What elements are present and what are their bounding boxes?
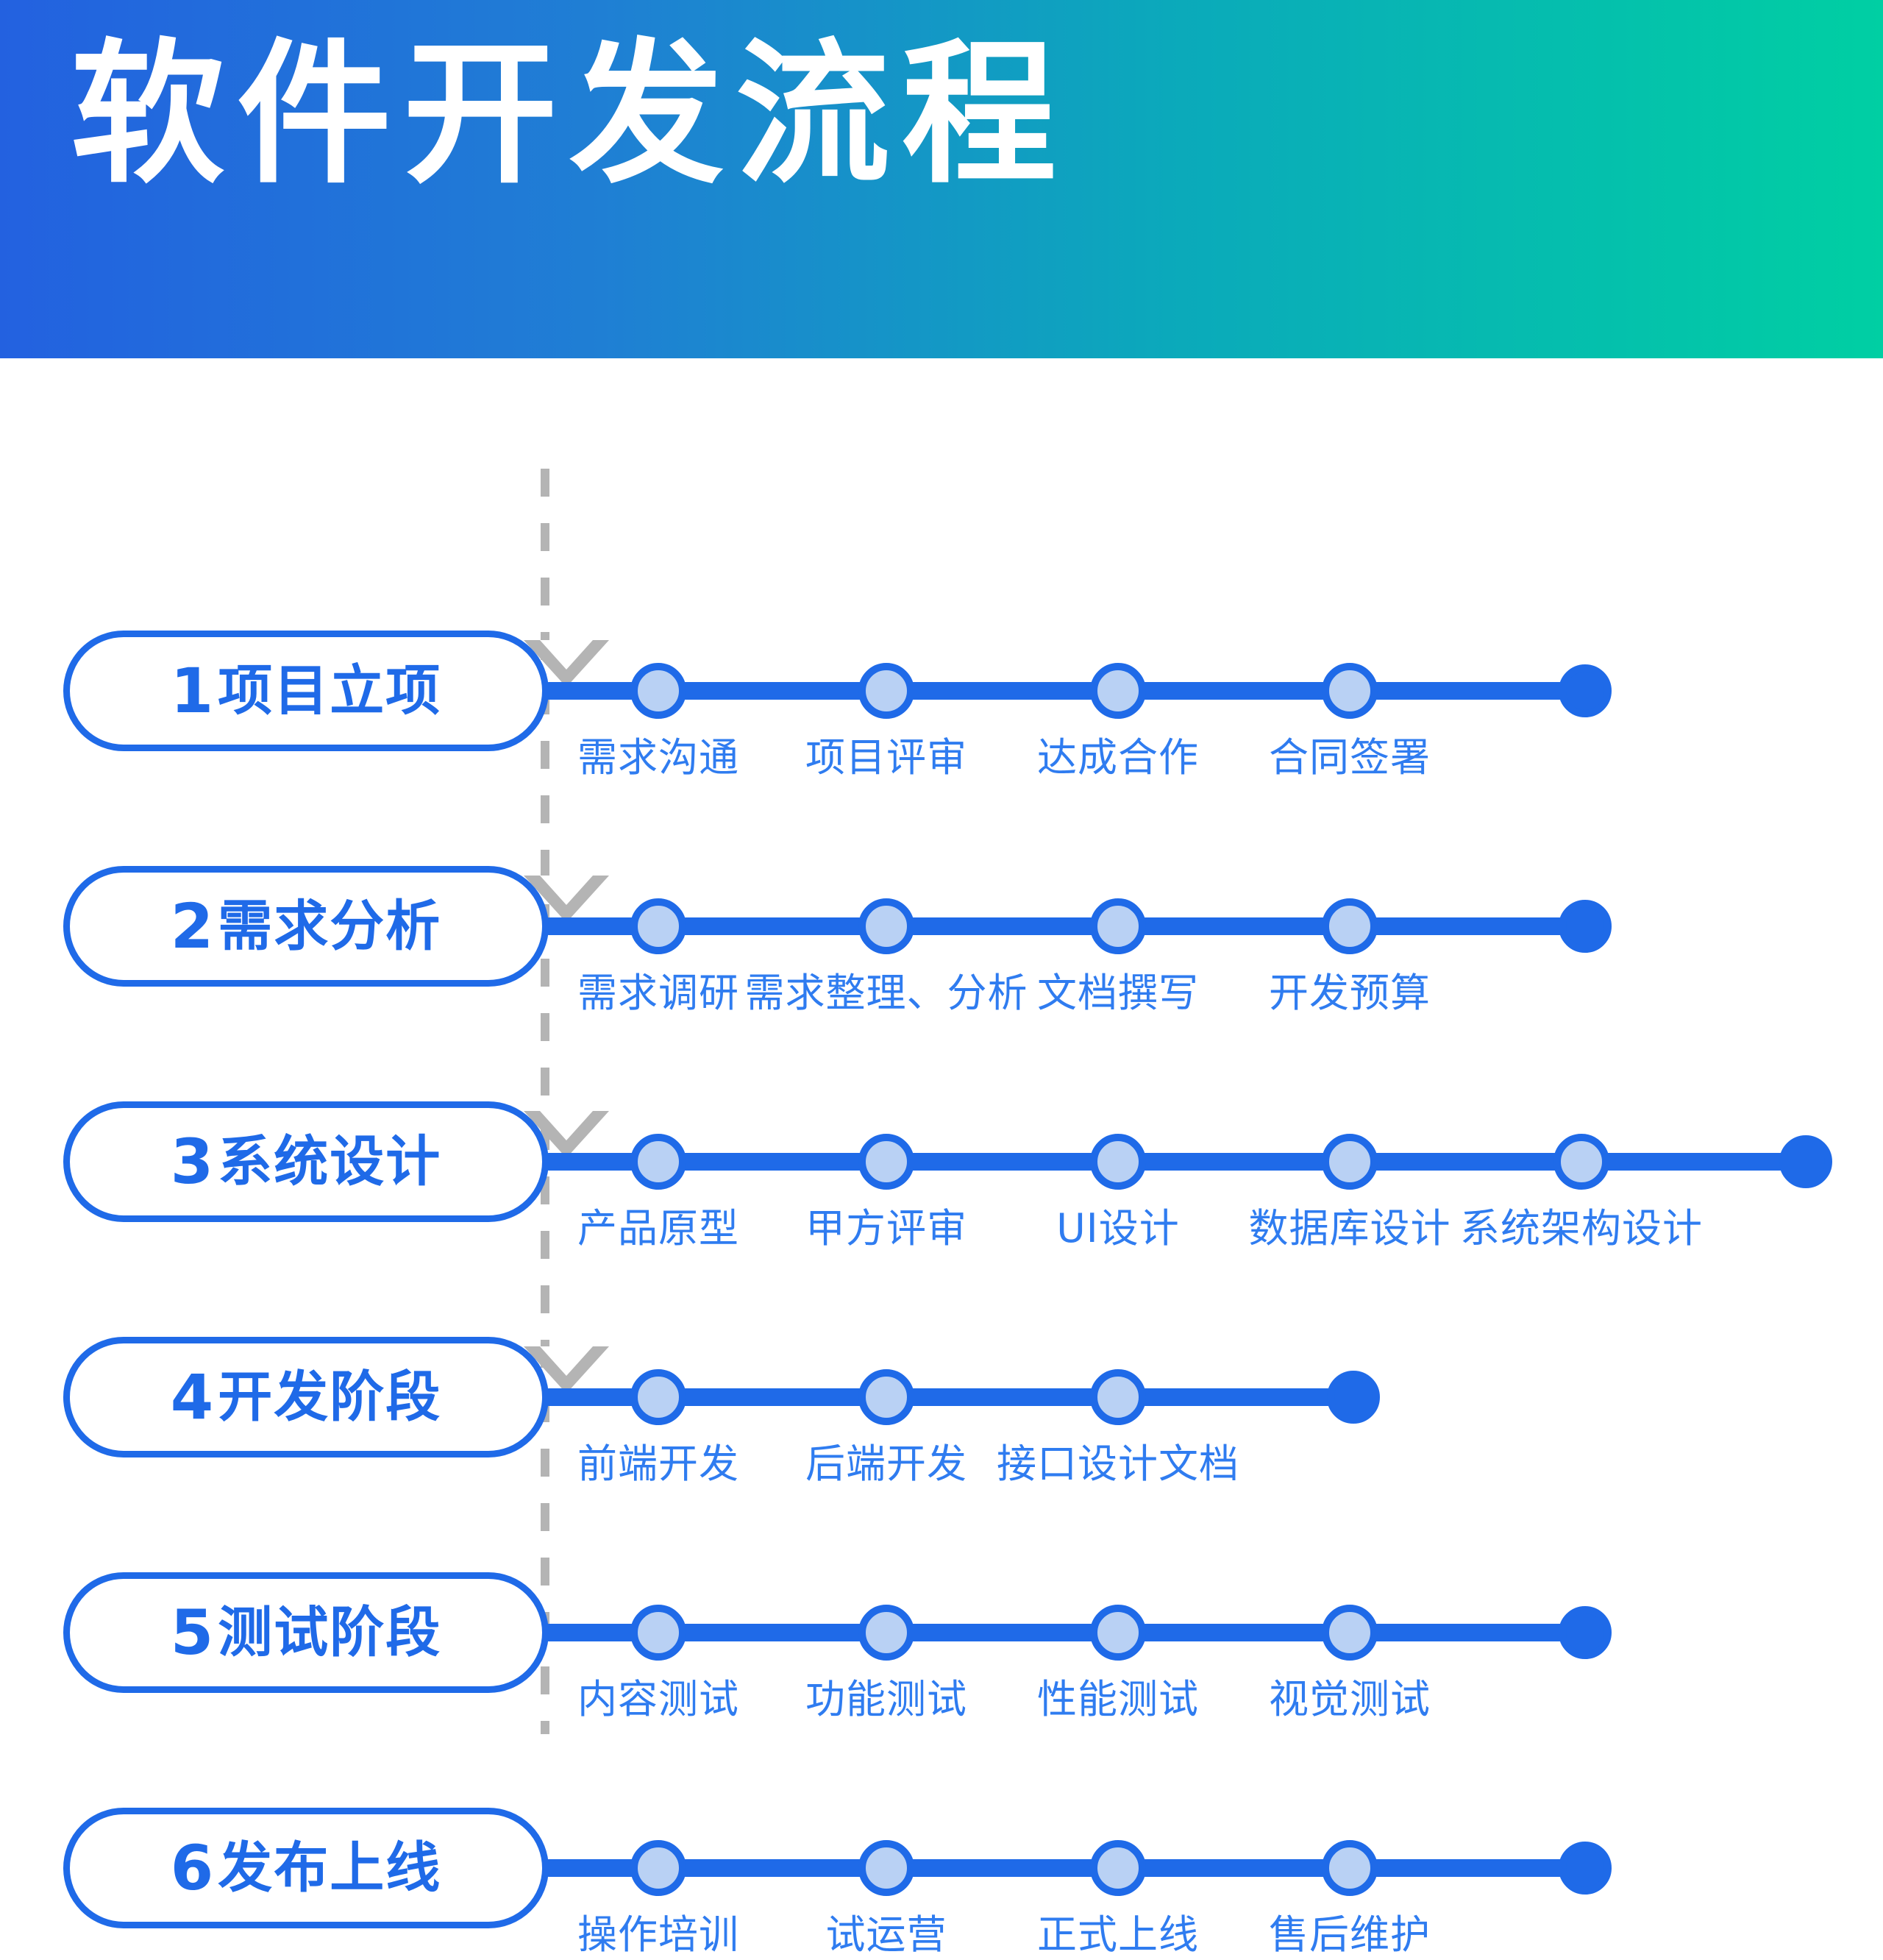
step-node-label: 需求沟通 — [577, 725, 739, 783]
step-node-label: 达成合作 — [1037, 725, 1199, 783]
step-node-label: 需求调研 — [577, 960, 739, 1018]
step-node-label: 内容测试 — [577, 1666, 739, 1725]
step-node-label: 项目评审 — [805, 725, 967, 783]
stage-pill-4[interactable]: 4开发阶段 — [63, 1337, 549, 1457]
step-node-label: 售后维护 — [1269, 1902, 1431, 1960]
stage-row: 1项目立项需求沟通项目评审达成合作合同签署 — [0, 631, 1883, 778]
step-node-label: 接口设计文档 — [997, 1431, 1239, 1489]
track-end-dot — [1559, 664, 1612, 717]
stage-row: 4开发阶段前端开发后端开发接口设计文档 — [0, 1337, 1883, 1484]
step-node-label: 系统架构设计 — [1460, 1196, 1703, 1254]
step-node-label: 开发预算 — [1269, 960, 1431, 1018]
stage-pill-6[interactable]: 6发布上线 — [63, 1808, 549, 1928]
stage-row: 3系统设计产品原型甲方评审UI设计数据库设计系统架构设计 — [0, 1101, 1883, 1249]
stage-title: 开发阶段 — [218, 1370, 441, 1424]
step-node-dot[interactable] — [1322, 898, 1378, 954]
step-node-dot[interactable] — [858, 898, 914, 954]
stage-title: 需求分析 — [218, 899, 441, 954]
stage-number: 3 — [171, 1131, 213, 1193]
track-end-dot — [1327, 1371, 1380, 1424]
flow-diagram: 1项目立项需求沟通项目评审达成合作合同签署2需求分析需求调研需求整理、分析文档撰… — [0, 358, 1883, 1861]
step-node-label: 数据库设计 — [1249, 1196, 1451, 1254]
step-node-dot[interactable] — [630, 663, 686, 719]
step-node-dot[interactable] — [858, 1840, 914, 1896]
step-node-dot[interactable] — [1322, 1605, 1378, 1661]
stage-row: 5测试阶段内容测试功能测试性能测试视觉测试 — [0, 1572, 1883, 1719]
stage-row: 2需求分析需求调研需求整理、分析文档撰写开发预算 — [0, 866, 1883, 1013]
stage-title: 发布上线 — [218, 1841, 441, 1895]
page-title: 软件开发流程 — [71, 34, 1068, 196]
step-node-label: 性能测试 — [1037, 1666, 1199, 1725]
track-end-dot — [1559, 900, 1612, 953]
step-node-label: 操作培训 — [577, 1902, 739, 1960]
step-node-label: 前端开发 — [577, 1431, 739, 1489]
header-banner: 软件开发流程 — [0, 0, 1883, 358]
step-node-dot[interactable] — [1090, 1134, 1146, 1190]
step-node-label: 合同签署 — [1269, 725, 1431, 783]
stage-track — [547, 682, 1585, 700]
track-end-dot — [1779, 1135, 1832, 1188]
step-node-dot[interactable] — [858, 1605, 914, 1661]
step-node-dot[interactable] — [1090, 1369, 1146, 1425]
step-node-label: 产品原型 — [577, 1196, 739, 1254]
stage-pill-1[interactable]: 1项目立项 — [63, 631, 549, 751]
stage-number: 5 — [171, 1602, 213, 1663]
step-node-dot[interactable] — [858, 1369, 914, 1425]
stage-number: 6 — [171, 1837, 213, 1899]
stage-track — [547, 1859, 1585, 1877]
step-node-dot[interactable] — [1322, 663, 1378, 719]
step-node-dot[interactable] — [1090, 898, 1146, 954]
step-node-dot[interactable] — [858, 1134, 914, 1190]
step-node-dot[interactable] — [630, 1605, 686, 1661]
step-node-label: 甲方评审 — [805, 1196, 967, 1254]
step-node-dot[interactable] — [630, 1369, 686, 1425]
step-node-label: 后端开发 — [805, 1431, 967, 1489]
stage-pill-3[interactable]: 3系统设计 — [63, 1101, 549, 1222]
stage-pill-5[interactable]: 5测试阶段 — [63, 1572, 549, 1693]
step-node-dot[interactable] — [630, 898, 686, 954]
stage-title: 项目立项 — [218, 664, 441, 718]
step-node-label: 文档撰写 — [1037, 960, 1199, 1018]
step-node-dot[interactable] — [1553, 1134, 1609, 1190]
step-node-label: 试运营 — [826, 1902, 947, 1960]
stage-pill-2[interactable]: 2需求分析 — [63, 866, 549, 987]
track-end-dot — [1559, 1606, 1612, 1659]
step-node-dot[interactable] — [630, 1840, 686, 1896]
step-node-label: UI设计 — [1056, 1196, 1179, 1254]
step-node-label: 正式上线 — [1037, 1902, 1199, 1960]
stage-row: 6发布上线操作培训试运营正式上线售后维护 — [0, 1808, 1883, 1955]
step-node-dot[interactable] — [1090, 663, 1146, 719]
stage-track — [547, 1624, 1585, 1641]
step-node-dot[interactable] — [1322, 1134, 1378, 1190]
step-node-dot[interactable] — [858, 663, 914, 719]
stage-number: 1 — [171, 660, 213, 722]
stage-number: 2 — [171, 895, 213, 957]
stage-track — [547, 917, 1585, 935]
step-node-label: 需求整理、分析 — [745, 960, 1028, 1018]
track-end-dot — [1559, 1842, 1612, 1895]
step-node-dot[interactable] — [1090, 1605, 1146, 1661]
step-node-label: 视觉测试 — [1269, 1666, 1431, 1725]
stage-track — [547, 1153, 1806, 1171]
stage-title: 系统设计 — [218, 1135, 441, 1189]
stage-title: 测试阶段 — [218, 1605, 441, 1660]
stage-number: 4 — [171, 1366, 213, 1428]
step-node-dot[interactable] — [1090, 1840, 1146, 1896]
step-node-dot[interactable] — [1322, 1840, 1378, 1896]
step-node-label: 功能测试 — [805, 1666, 967, 1725]
step-node-dot[interactable] — [630, 1134, 686, 1190]
